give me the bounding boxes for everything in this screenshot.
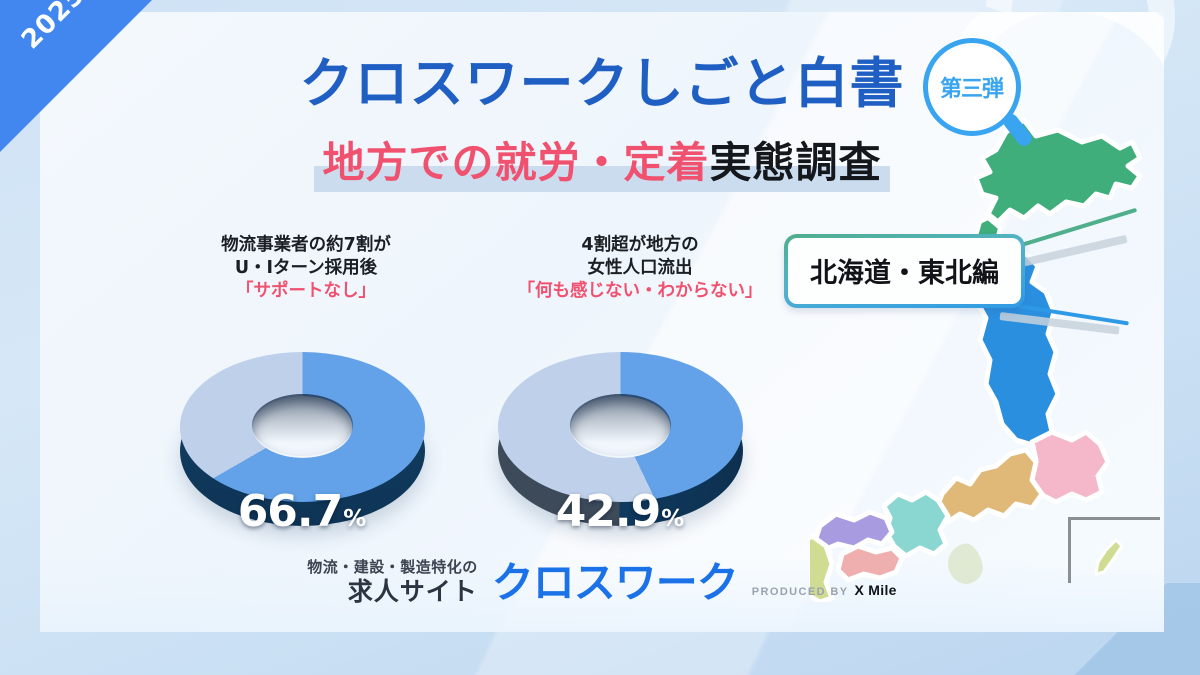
region-callout-label: 北海道・東北編 bbox=[810, 258, 999, 289]
donut-chart-right: 42.9% bbox=[480, 342, 760, 542]
page-title: クロスワークしごと白書 bbox=[300, 56, 905, 113]
footer-tagline: 物流・建設・製造特化の 求人サイト bbox=[307, 559, 478, 606]
year-ribbon bbox=[0, 0, 152, 152]
donut-right-value: 42.9% bbox=[480, 486, 760, 537]
donut-left-inner-shadow bbox=[252, 394, 353, 456]
footer-tagline-line2: 求人サイト bbox=[307, 577, 478, 607]
edition-badge: 第三弾 bbox=[923, 38, 1021, 136]
donut-right-number: 42.9 bbox=[556, 486, 661, 537]
produced-by-label: PRODUCED BY bbox=[752, 586, 849, 598]
stat-caption-left-line2: U・Iターン採用後 bbox=[136, 257, 476, 280]
stat-caption-right-line2: 女性人口流出 bbox=[460, 257, 820, 280]
edition-badge-label: 第三弾 bbox=[940, 71, 1003, 103]
stat-caption-left-line3: 「サポートなし」 bbox=[136, 280, 476, 303]
map-region-chubu bbox=[936, 450, 1042, 522]
stat-caption-right-line3: 「何も感じない・わからない」 bbox=[460, 280, 820, 303]
produced-by: PRODUCED BY X Mile bbox=[752, 582, 897, 606]
donut-left-unit: % bbox=[343, 506, 366, 532]
donut-chart-left: 66.7% bbox=[162, 342, 442, 542]
region-callout-box: 北海道・東北編 bbox=[784, 234, 1025, 308]
crosswork-logo: クロスワーク bbox=[492, 562, 738, 606]
donut-right-inner-shadow bbox=[570, 394, 671, 456]
subtitle-accent-text: 地方での就労・定着 bbox=[322, 138, 709, 187]
footer-tagline-line1: 物流・建設・製造特化の bbox=[307, 559, 478, 577]
infographic-card: クロスワークしごと白書 第三弾 地方での就労・定着実態調査 物流事業者の約7割が… bbox=[40, 12, 1164, 632]
stat-caption-left: 物流事業者の約7割が U・Iターン採用後 「サポートなし」 bbox=[136, 234, 476, 303]
footer: 物流・建設・製造特化の 求人サイト クロスワーク PRODUCED BY X M… bbox=[40, 559, 1164, 606]
header: クロスワークしごと白書 第三弾 地方での就労・定着実態調査 bbox=[40, 56, 1164, 190]
stat-caption-right-line1: 4割超が地方の bbox=[460, 234, 820, 257]
title-row: クロスワークしごと白書 第三弾 bbox=[300, 56, 905, 113]
donut-left-value: 66.7% bbox=[162, 486, 442, 537]
region-callout: 北海道・東北編 bbox=[784, 234, 1025, 308]
stat-caption-right: 4割超が地方の 女性人口流出 「何も感じない・わからない」 bbox=[460, 234, 820, 303]
page-subtitle: 地方での就労・定着実態調査 bbox=[322, 129, 881, 190]
subtitle-wrap: 地方での就労・定着実態調査 bbox=[322, 129, 881, 190]
donut-left-number: 66.7 bbox=[238, 486, 343, 537]
stat-caption-left-line1: 物流事業者の約7割が bbox=[136, 234, 476, 257]
subtitle-plain-text: 実態調査 bbox=[710, 138, 882, 187]
donut-right-unit: % bbox=[661, 506, 684, 532]
xmile-brand: X Mile bbox=[854, 582, 896, 598]
